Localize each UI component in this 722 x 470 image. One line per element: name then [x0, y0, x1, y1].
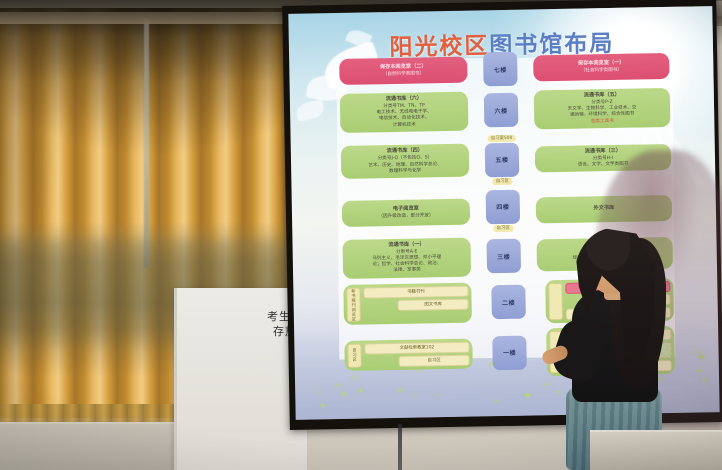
floor-cell-left: 新书报刊阅览区书籍书刊图文书库 [343, 282, 472, 325]
sparkle-dot [525, 394, 529, 397]
curtain-rod [0, 12, 300, 24]
floor-badge: 五楼 [485, 142, 520, 177]
floor-badge: 六楼 [484, 93, 519, 128]
floor-cell-left: 保存本阅览室（二）（自然科学类图书） [339, 57, 467, 85]
floor-cell-line: 法律、军事类 [347, 267, 467, 275]
floor-badge: 七楼 [483, 52, 518, 87]
floor-cell-chip: 书籍书刊 [363, 285, 468, 298]
floor-cell-left: 流通书库（六）分类号TM、TN、TP电工技术、无线电电子学、电信技术、自动化技术… [340, 92, 469, 133]
floor-badge: 三楼 [486, 239, 521, 274]
floor-cell-right: 保存本阅览室（一）（社会科学类图书） [533, 53, 669, 81]
floor-badge-stack: 四楼自习区 [483, 189, 524, 232]
floor-cell-left: 流通书库（四）分类号J-Q（不包括O、S）艺术、历史、地理、自然科学总论、数理科… [341, 144, 470, 179]
floor-row: 流通书库（六）分类号TM、TN、TP电工技术、无线电电子学、电信技术、自动化技术… [340, 88, 671, 133]
floor-cell-chip: 图文书库 [397, 298, 468, 310]
dove-icon [295, 99, 325, 121]
floor-badge: 四楼 [486, 189, 521, 224]
floor-badge-stack: 六楼 [481, 93, 522, 128]
floor-cell-accent: 各类工具书 [538, 118, 666, 127]
floor-badge-stack: 自习室500五楼自习区 [482, 134, 523, 185]
floor-cell-chip-stack: 书籍书刊图文书库 [363, 285, 469, 322]
floor-cell-vertical-label: 自习区 [347, 343, 361, 367]
floor-cell-chip: 文献检索教室102 [364, 341, 469, 354]
floor-cell-right: 流通书库（五）分类号P-Z天文学、生物科学、工业技术、交通运输、环境科学、综合性… [534, 88, 671, 129]
floor-cell-line: 数理科学与化学 [345, 168, 465, 176]
floor-cell-left: 流通书库（一）分类号A-E马列主义、毛泽东思想、邓小平理论；哲学、社会科学总论、… [342, 237, 471, 278]
floor-badge-stack: 二楼 [488, 285, 529, 320]
floor-tag-bottom: 自习区 [493, 178, 512, 185]
floor-cell-line: （社会科学类图书） [537, 67, 665, 76]
screen-stand-leg [398, 424, 402, 470]
floor-cell-left: 电子阅览室（因升级改造，部分开放） [342, 198, 470, 226]
floor-badge: 一楼 [492, 335, 527, 370]
screenshot-root: 考生物品 存放处 阳光校区图书馆布局 保存本阅览室（二）（自然科学类图书）七楼保… [0, 0, 722, 470]
desk [590, 430, 722, 470]
floor-badge-stack: 一楼 [489, 335, 530, 370]
floor-cell-chip-stack: 文献检索教室102自习区 [364, 341, 469, 367]
floor-badge-stack: 三楼 [483, 239, 524, 274]
floor-row: 保存本阅览室（二）（自然科学类图书）七楼保存本阅览室（一）（社会科学类图书） [339, 49, 670, 89]
floor-tag-bottom: 自习区 [494, 225, 513, 232]
floor-cell-line: （自然科学类图书） [343, 71, 463, 79]
floor-tag-top: 自习室500 [488, 135, 516, 143]
floor-cell-line: 计算机技术 [344, 121, 464, 129]
floor-cell-line: （因升级改造，部分开放） [346, 212, 466, 220]
floor-badge-stack: 七楼 [480, 52, 521, 87]
floor-cell-chip: 自习区 [398, 354, 469, 366]
floor-badge: 二楼 [491, 285, 526, 320]
floor-cell-left: 自习区文献检索教室102自习区 [344, 338, 473, 370]
floor-cell-vertical-label: 新书报刊阅览区 [346, 287, 361, 322]
